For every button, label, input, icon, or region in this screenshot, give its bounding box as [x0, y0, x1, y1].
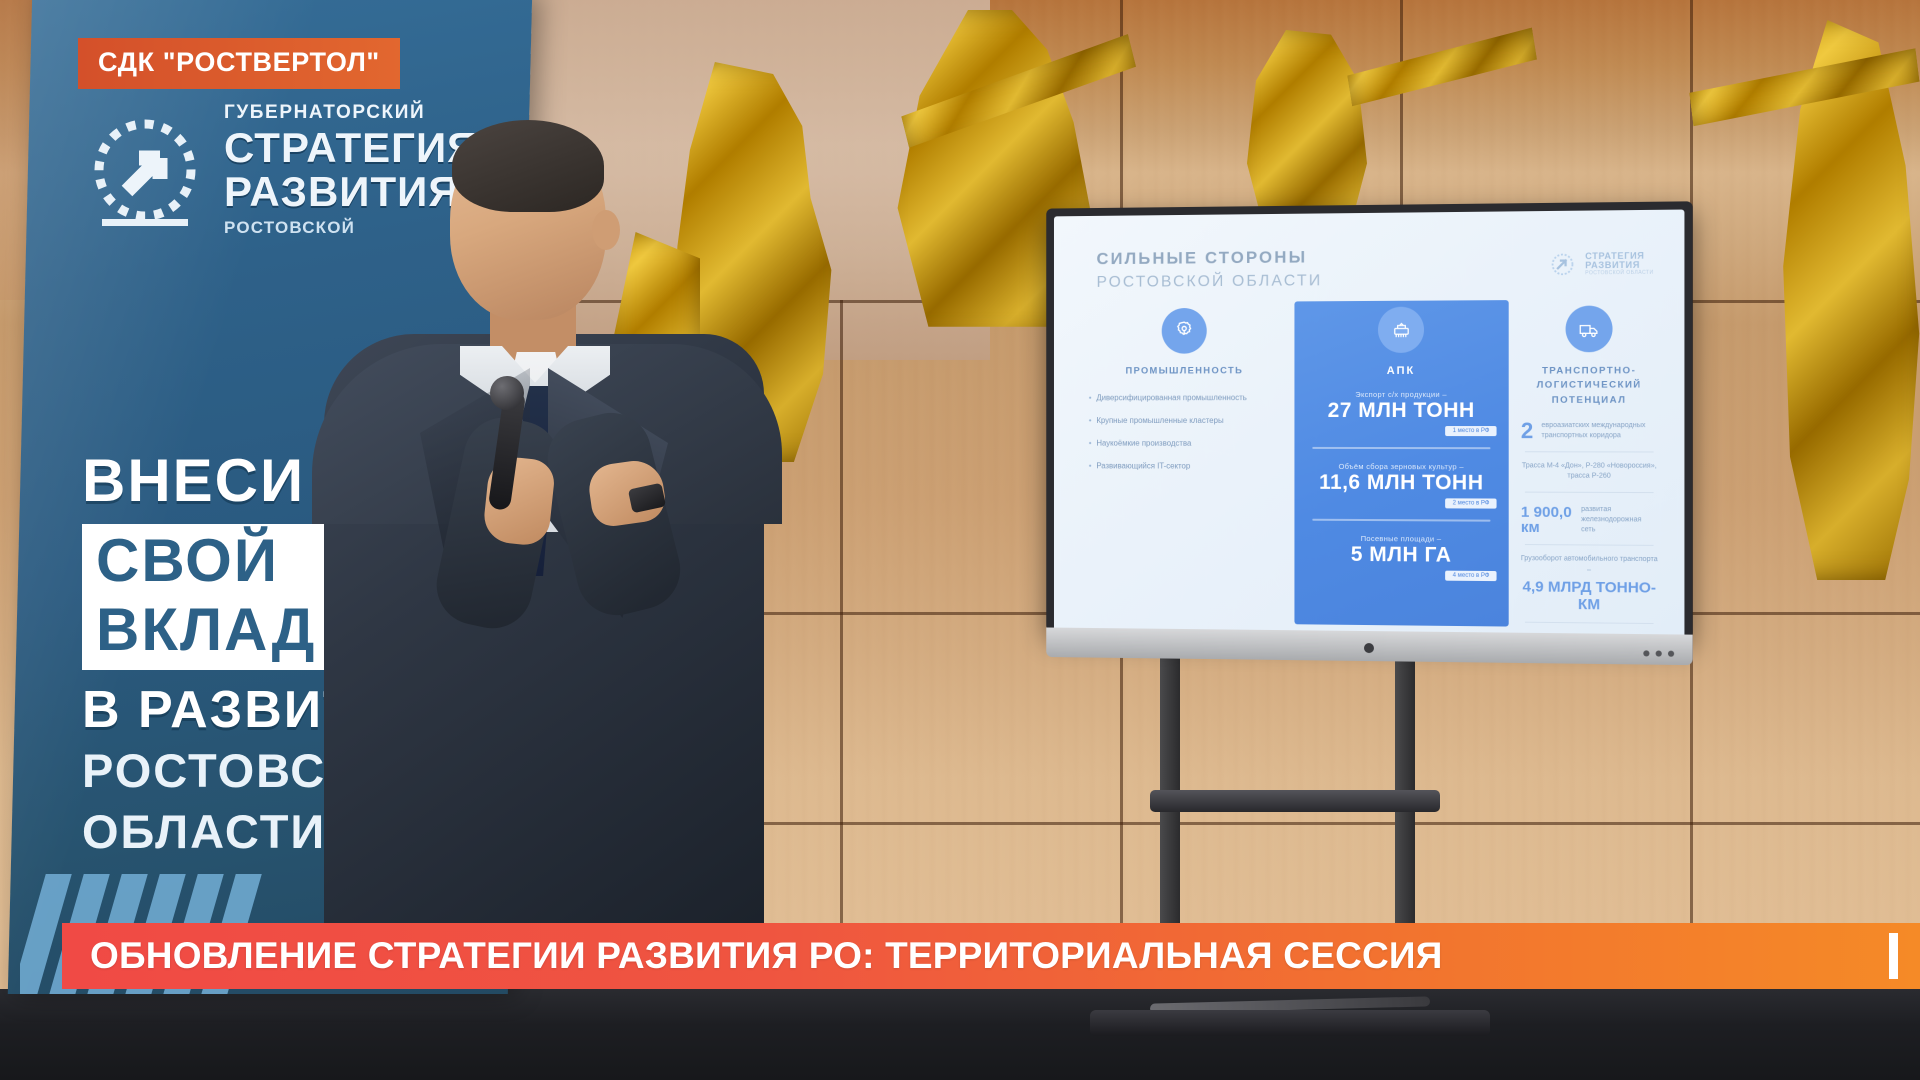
divider [1525, 544, 1654, 546]
metric-rank-badge: 1 место в РФ [1446, 426, 1497, 436]
slide-title-line-1: СИЛЬНЫЕ СТОРОНЫ [1097, 247, 1323, 269]
metric-value: 5 МЛН ГА [1306, 543, 1496, 569]
location-banner: СДК "РОСТВЕРТОЛ" [78, 38, 400, 89]
metric-rank-badge: 2 место в РФ [1446, 499, 1497, 509]
industry-bullet-list: •Диверсифицированная промышленность •Кру… [1089, 392, 1281, 473]
slide-logo-line-3: РОСТОВСКОЙ ОБЛАСТИ [1585, 271, 1653, 277]
list-item: •Диверсифицированная промышленность [1089, 392, 1281, 404]
transport-text: развитая железнодорожная сеть [1581, 505, 1658, 536]
headline-text: ОБНОВЛЕНИЕ СТРАТЕГИИ РАЗВИТИЯ РО: ТЕРРИТ… [62, 935, 1443, 977]
column-heading-transport: ТРАНСПОРТНО-ЛОГИСТИЧЕСКИЙ ПОТЕНЦИАЛ [1521, 364, 1658, 407]
bullet-text: Развивающийся IT-сектор [1096, 460, 1190, 472]
transport-item: 1 900,0 км развитая железнодорожная сеть [1521, 504, 1658, 535]
slide-strong-points: СИЛЬНЫЕ СТОРОНЫ РОСТОВСКОЙ ОБЛАСТИ СТРАТ… [1054, 210, 1684, 639]
sunburst-arrow-icon [1547, 249, 1578, 280]
slide-title: СИЛЬНЫЕ СТОРОНЫ РОСТОВСКОЙ ОБЛАСТИ [1097, 247, 1323, 291]
speaker-hair [452, 120, 604, 212]
tractor-icon [1378, 307, 1424, 353]
broadcast-frame: СИЛЬНЫЕ СТОРОНЫ РОСТОВСКОЙ ОБЛАСТИ СТРАТ… [0, 0, 1920, 1080]
microphone-head [490, 376, 524, 410]
transport-item: 2 евроазиатских международных транспортн… [1521, 420, 1658, 442]
metric-value: 27 МЛН ТОНН [1306, 399, 1496, 423]
slide-column-transport: ТРАНСПОРТНО-ЛОГИСТИЧЕСКИЙ ПОТЕНЦИАЛ 2 ев… [1509, 299, 1670, 628]
transport-text: евроазиатских международных транспортных… [1541, 421, 1657, 442]
transport-note: Грузооборот автомобильного транспорта – [1521, 554, 1658, 576]
headline-banner: ОБНОВЛЕНИЕ СТРАТЕГИИ РАЗВИТИЯ РО: ТЕРРИТ… [62, 923, 1920, 989]
display-indicator-lights [1643, 650, 1674, 656]
bullet-text: Диверсифицированная промышленность [1096, 392, 1246, 404]
floor [0, 989, 1920, 1080]
presentation-display[interactable]: СИЛЬНЫЕ СТОРОНЫ РОСТОВСКОЙ ОБЛАСТИ СТРАТ… [1046, 201, 1692, 638]
divider [1525, 451, 1654, 452]
slide-logo: СТРАТЕГИЯ РАЗВИТИЯ РОСТОВСКОЙ ОБЛАСТИ [1547, 248, 1653, 279]
list-item: •Развивающийся IT-сектор [1089, 460, 1281, 472]
column-heading-line-2: ПОТЕНЦИАЛ [1521, 393, 1658, 408]
divider [1312, 447, 1490, 449]
divider [1525, 491, 1654, 492]
slide-column-industry: ПРОМЫШЛЕННОСТЬ •Диверсифицированная пром… [1075, 301, 1294, 624]
display-stand-base [1090, 1010, 1490, 1036]
metric-value: 11,6 МЛН ТОНН [1306, 471, 1496, 496]
speaker-ear [592, 210, 620, 250]
headline-endcap [1889, 933, 1898, 979]
apk-metric: Посевные площади – 5 МЛН ГА 4 место в РФ [1306, 534, 1496, 582]
list-item: •Крупные промышленные кластеры [1089, 415, 1281, 427]
column-heading-industry: ПРОМЫШЛЕННОСТЬ [1089, 365, 1281, 376]
transport-number: 1 900,0 км [1521, 505, 1573, 536]
list-item: •Наукоёмкие производства [1089, 438, 1281, 450]
slide-columns: ПРОМЫШЛЕННОСТЬ •Диверсифицированная пром… [1075, 299, 1670, 628]
metric-rank-badge: 4 место в РФ [1446, 571, 1497, 581]
bullet-text: Крупные промышленные кластеры [1096, 415, 1223, 427]
slide-title-line-2: РОСТОВСКОЙ ОБЛАСТИ [1097, 272, 1323, 292]
divider [1312, 519, 1490, 522]
bullet-text: Наукоёмкие производства [1096, 438, 1191, 450]
apk-metric: Экспорт с/х продукции – 27 МЛН ТОНН 1 ме… [1306, 390, 1496, 436]
camera-icon [1364, 643, 1374, 653]
column-heading-line-1: ТРАНСПОРТНО-ЛОГИСТИЧЕСКИЙ [1521, 364, 1658, 393]
divider [1525, 622, 1654, 624]
truck-icon [1566, 306, 1613, 353]
sunburst-arrow-icon [82, 107, 208, 233]
column-heading-apk: АПК [1306, 365, 1496, 378]
apk-metric: Объём сбора зерновых культур – 11,6 МЛН … [1306, 462, 1496, 509]
transport-note: Трасса М-4 «Дон», Р-280 «Новороссия», тр… [1521, 461, 1658, 483]
metric-label: Экспорт с/х продукции – [1306, 390, 1496, 399]
transport-number: 2 [1521, 420, 1533, 442]
speaker-presenter [300, 118, 820, 938]
gear-location-icon [1162, 308, 1207, 354]
slide-column-apk: АПК Экспорт с/х продукции – 27 МЛН ТОНН … [1294, 300, 1508, 626]
transport-big-value: 4,9 МЛРД ТОННО-КМ [1521, 578, 1658, 614]
display-stand-shelf [1150, 790, 1440, 812]
